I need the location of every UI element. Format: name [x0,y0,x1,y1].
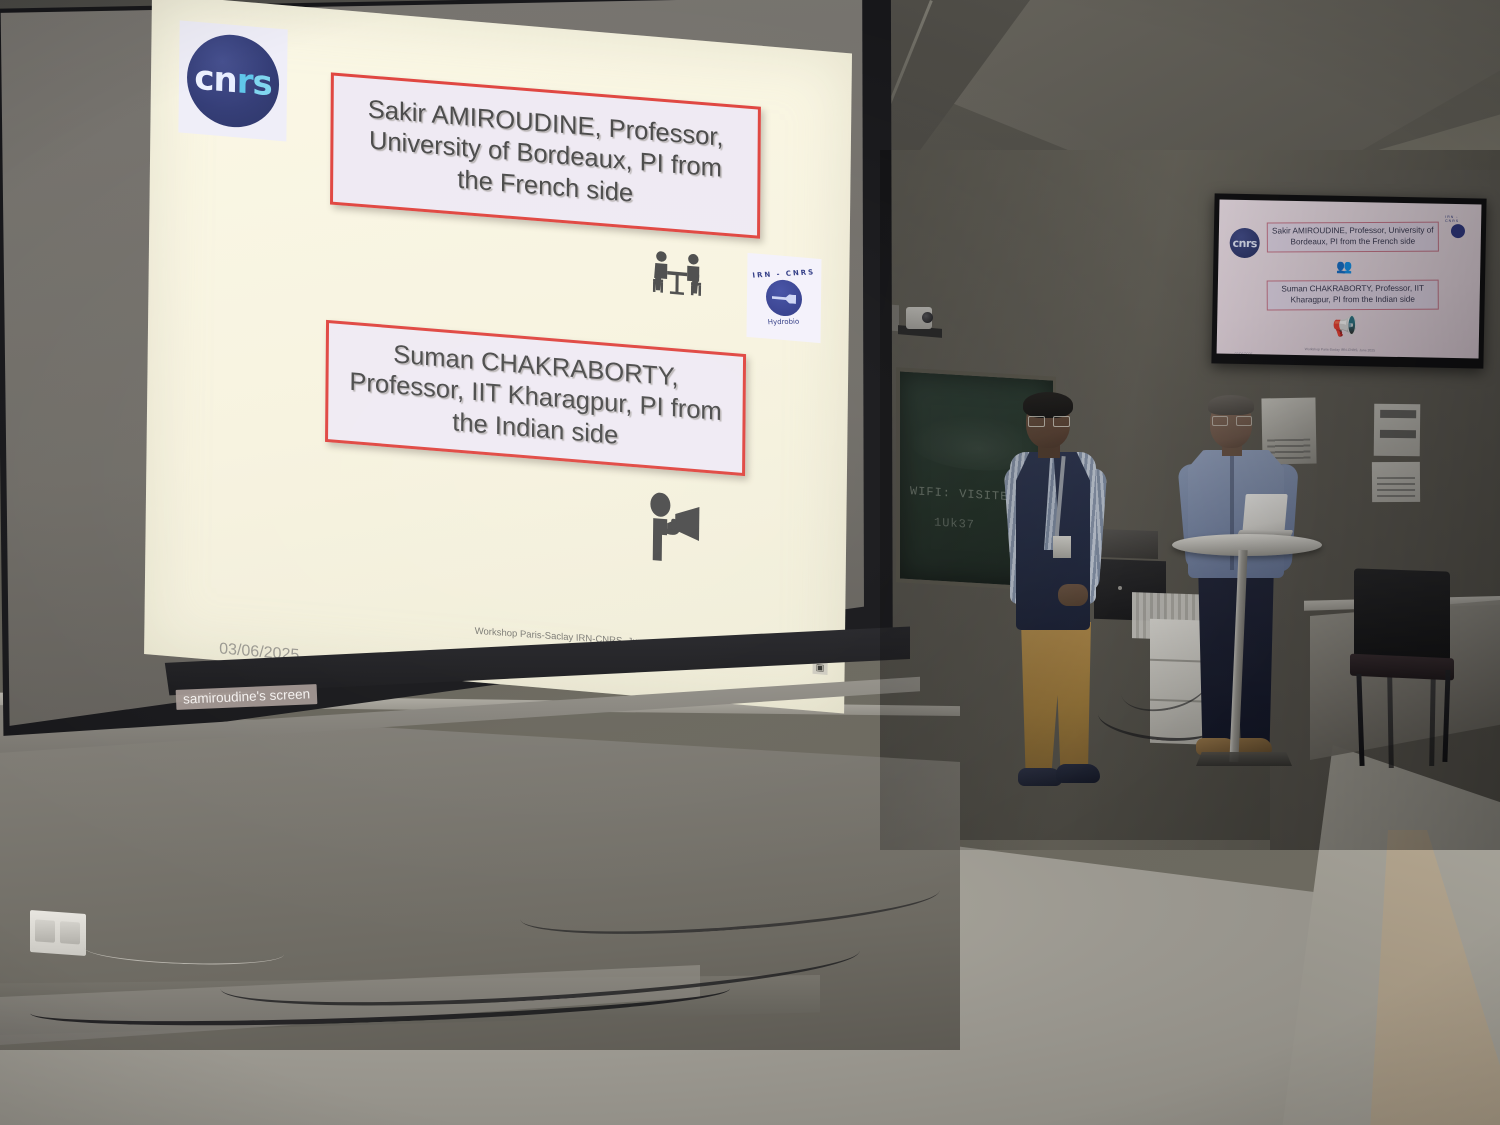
outlet-socket [35,919,55,942]
irn-cnrs-logo: IRN - CNRS Hydrobio [746,253,821,343]
monitor-irn-logo: IRN - CNRS [1445,212,1472,240]
presenter-in-vest [1000,396,1120,808]
cnrs-letter-s: s [252,63,272,105]
wall-poster [1374,404,1421,456]
podium-pole [1229,550,1247,762]
laptop-lid [1242,494,1287,534]
outlet-socket [60,921,80,944]
monitor-footer-text: Workshop Paris-Saclay IRN-CNRS, June 202… [1305,347,1375,352]
presenter-trousers [1018,622,1094,774]
slide-canvas: cnrs Sakir AMIROUDINE, Professor, Univer… [144,0,852,714]
stacking-chair[interactable] [1348,570,1460,770]
poster-bar [1380,430,1416,438]
callout-french-pi: Sakir AMIROUDINE, Professor, University … [330,72,761,238]
presenter-shoe [1056,764,1100,783]
irn-sub-text: Hydrobio [768,318,800,327]
presenter-hair [1023,392,1073,418]
podium-base-foot [1196,752,1292,766]
poster-lines [1377,477,1416,497]
camera-lens [922,312,933,323]
monitor-callout-indian: Suman CHAKRABORTY, Professor, IIT Kharag… [1267,280,1439,311]
monitor-callout-french: Sakir AMIROUDINE, Professor, University … [1267,222,1439,253]
cnrs-letter-n: n [213,59,237,101]
wall-poster [1372,462,1420,502]
chair-seat [1350,654,1454,681]
poster-bar [1380,410,1416,418]
megaphone-speaker-icon [641,491,712,572]
callout-indian-pi: Suman CHAKRABORTY, Professor, IIT Kharag… [325,320,746,476]
monitor-date: 03/06/2025 [1235,352,1253,356]
callout-indian-text: Suman CHAKRABORTY, Professor, IIT Kharag… [344,336,727,460]
presenter-badge [1053,536,1071,558]
meeting-people-icon [641,248,712,307]
glasses-icon [1212,416,1252,424]
ptz-conference-camera [898,305,942,339]
presenter-hands [1058,584,1088,606]
wall-outlet[interactable] [30,910,86,956]
conference-room-scene: cnrs Sakir AMIROUDINE, Professor, Univer… [0,0,1500,1125]
cnrs-letter-c: c [194,58,214,100]
chair-leg [1442,670,1450,762]
chair-leg [1356,674,1364,766]
monitor-meeting-icon: 👥 [1336,259,1352,275]
wall-mounted-display[interactable]: cnrs IRN - CNRS Sakir AMIROUDINE, Profes… [1211,193,1486,368]
chair-leg [1387,676,1394,768]
chair-leg [1429,674,1436,766]
cnrs-letter-r: r [236,61,252,102]
monitor-cnrs-logo: cnrs [1229,228,1260,259]
monitor-irn-arc-text: IRN - CNRS [1445,214,1471,222]
presenter-hair [1208,395,1254,415]
callout-french-text: Sakir AMIROUDINE, Professor, University … [349,93,742,218]
monitor-share-banner [1228,358,1272,359]
cnrs-disc: cnrs [186,31,279,131]
irn-disc-icon [766,278,802,317]
irn-arc-text: IRN - CNRS [753,268,817,279]
blackboard-wifi-password: 1Uk37 [934,516,975,532]
monitor-irn-disc-icon [1451,223,1465,237]
glasses-icon [1028,416,1070,425]
monitor-megaphone-icon: 📢 [1332,314,1357,339]
monitor-screen-surface: cnrs IRN - CNRS Sakir AMIROUDINE, Profes… [1217,199,1482,358]
chair-backrest [1354,568,1450,661]
round-standing-podium [1172,534,1322,782]
cnrs-logo: cnrs [178,20,287,141]
